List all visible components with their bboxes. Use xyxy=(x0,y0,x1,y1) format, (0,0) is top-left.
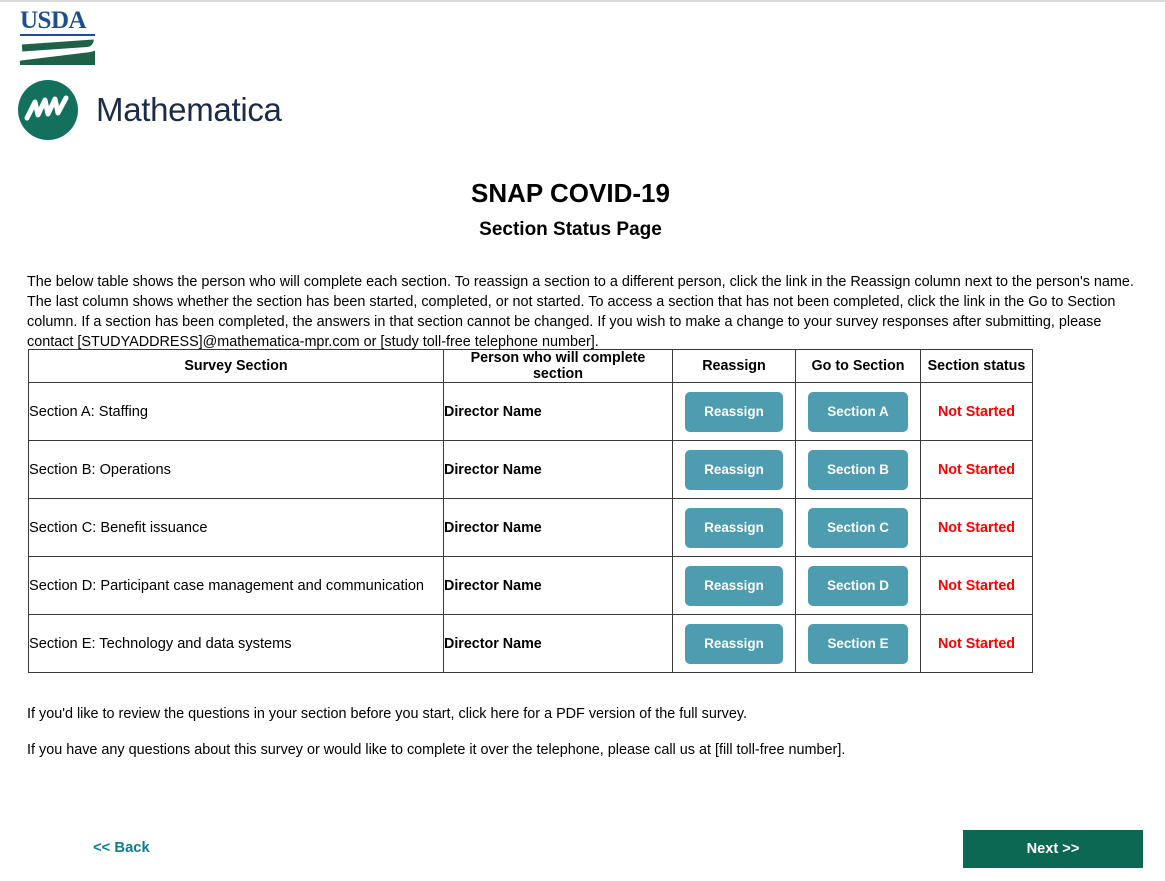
usda-underline xyxy=(20,34,95,36)
cell-reassign: Reassign xyxy=(673,499,796,557)
cell-goto-section: Section A xyxy=(796,383,921,441)
page-subtitle: Section Status Page xyxy=(0,219,1141,241)
goto-section-button[interactable]: Section B xyxy=(808,450,908,490)
cell-goto-section: Section B xyxy=(796,441,921,499)
cell-person: Director Name xyxy=(444,499,673,557)
status-badge: Not Started xyxy=(921,615,1033,673)
pdf-survey-note: If you'd like to review the questions in… xyxy=(27,706,747,722)
column-header-person: Person who will complete section xyxy=(444,350,673,383)
column-header-section-status: Section status xyxy=(921,350,1033,383)
goto-section-button[interactable]: Section C xyxy=(808,508,908,548)
status-badge: Not Started xyxy=(921,441,1033,499)
mathematica-wordmark: Mathematica xyxy=(96,91,282,129)
cell-reassign: Reassign xyxy=(673,441,796,499)
usda-wordmark: USDA xyxy=(20,8,86,33)
cell-person: Director Name xyxy=(444,615,673,673)
back-link[interactable]: << Back xyxy=(93,840,150,856)
table-row: Section B: Operations Director Name Reas… xyxy=(29,441,1033,499)
cell-survey-section: Section D: Participant case management a… xyxy=(29,557,444,615)
status-badge: Not Started xyxy=(921,499,1033,557)
cell-goto-section: Section C xyxy=(796,499,921,557)
next-button[interactable]: Next >> xyxy=(963,830,1143,868)
section-status-table: Survey Section Person who will complete … xyxy=(28,349,1033,673)
cell-goto-section: Section E xyxy=(796,615,921,673)
usda-logo-icon: USDA xyxy=(20,8,95,65)
table-row: Section A: Staffing Director Name Reassi… xyxy=(29,383,1033,441)
goto-section-button[interactable]: Section E xyxy=(808,624,908,664)
status-badge: Not Started xyxy=(921,383,1033,441)
mathematica-logo: Mathematica xyxy=(18,80,282,140)
table-header-row: Survey Section Person who will complete … xyxy=(29,350,1033,383)
cell-survey-section: Section E: Technology and data systems xyxy=(29,615,444,673)
reassign-button[interactable]: Reassign xyxy=(685,566,783,606)
logo-block: USDA xyxy=(20,8,95,65)
cell-survey-section: Section B: Operations xyxy=(29,441,444,499)
page-title: SNAP COVID-19 xyxy=(0,178,1141,209)
reassign-button[interactable]: Reassign xyxy=(685,450,783,490)
reassign-button[interactable]: Reassign xyxy=(685,508,783,548)
column-header-goto-section: Go to Section xyxy=(796,350,921,383)
cell-survey-section: Section C: Benefit issuance xyxy=(29,499,444,557)
cell-survey-section: Section A: Staffing xyxy=(29,383,444,441)
reassign-button[interactable]: Reassign xyxy=(685,392,783,432)
cell-reassign: Reassign xyxy=(673,383,796,441)
table-row: Section C: Benefit issuance Director Nam… xyxy=(29,499,1033,557)
column-header-reassign: Reassign xyxy=(673,350,796,383)
table-row: Section D: Participant case management a… xyxy=(29,557,1033,615)
column-header-survey-section: Survey Section xyxy=(29,350,444,383)
cell-reassign: Reassign xyxy=(673,615,796,673)
cell-reassign: Reassign xyxy=(673,557,796,615)
telephone-note: If you have any questions about this sur… xyxy=(27,742,845,758)
status-badge: Not Started xyxy=(921,557,1033,615)
cell-person: Director Name xyxy=(444,557,673,615)
cell-person: Director Name xyxy=(444,383,673,441)
goto-section-button[interactable]: Section A xyxy=(808,392,908,432)
cell-person: Director Name xyxy=(444,441,673,499)
reassign-button[interactable]: Reassign xyxy=(685,624,783,664)
intro-paragraph: The below table shows the person who wil… xyxy=(27,273,1140,352)
mathematica-logo-icon xyxy=(18,80,78,140)
cell-goto-section: Section D xyxy=(796,557,921,615)
table-row: Section E: Technology and data systems D… xyxy=(29,615,1033,673)
goto-section-button[interactable]: Section D xyxy=(808,566,908,606)
